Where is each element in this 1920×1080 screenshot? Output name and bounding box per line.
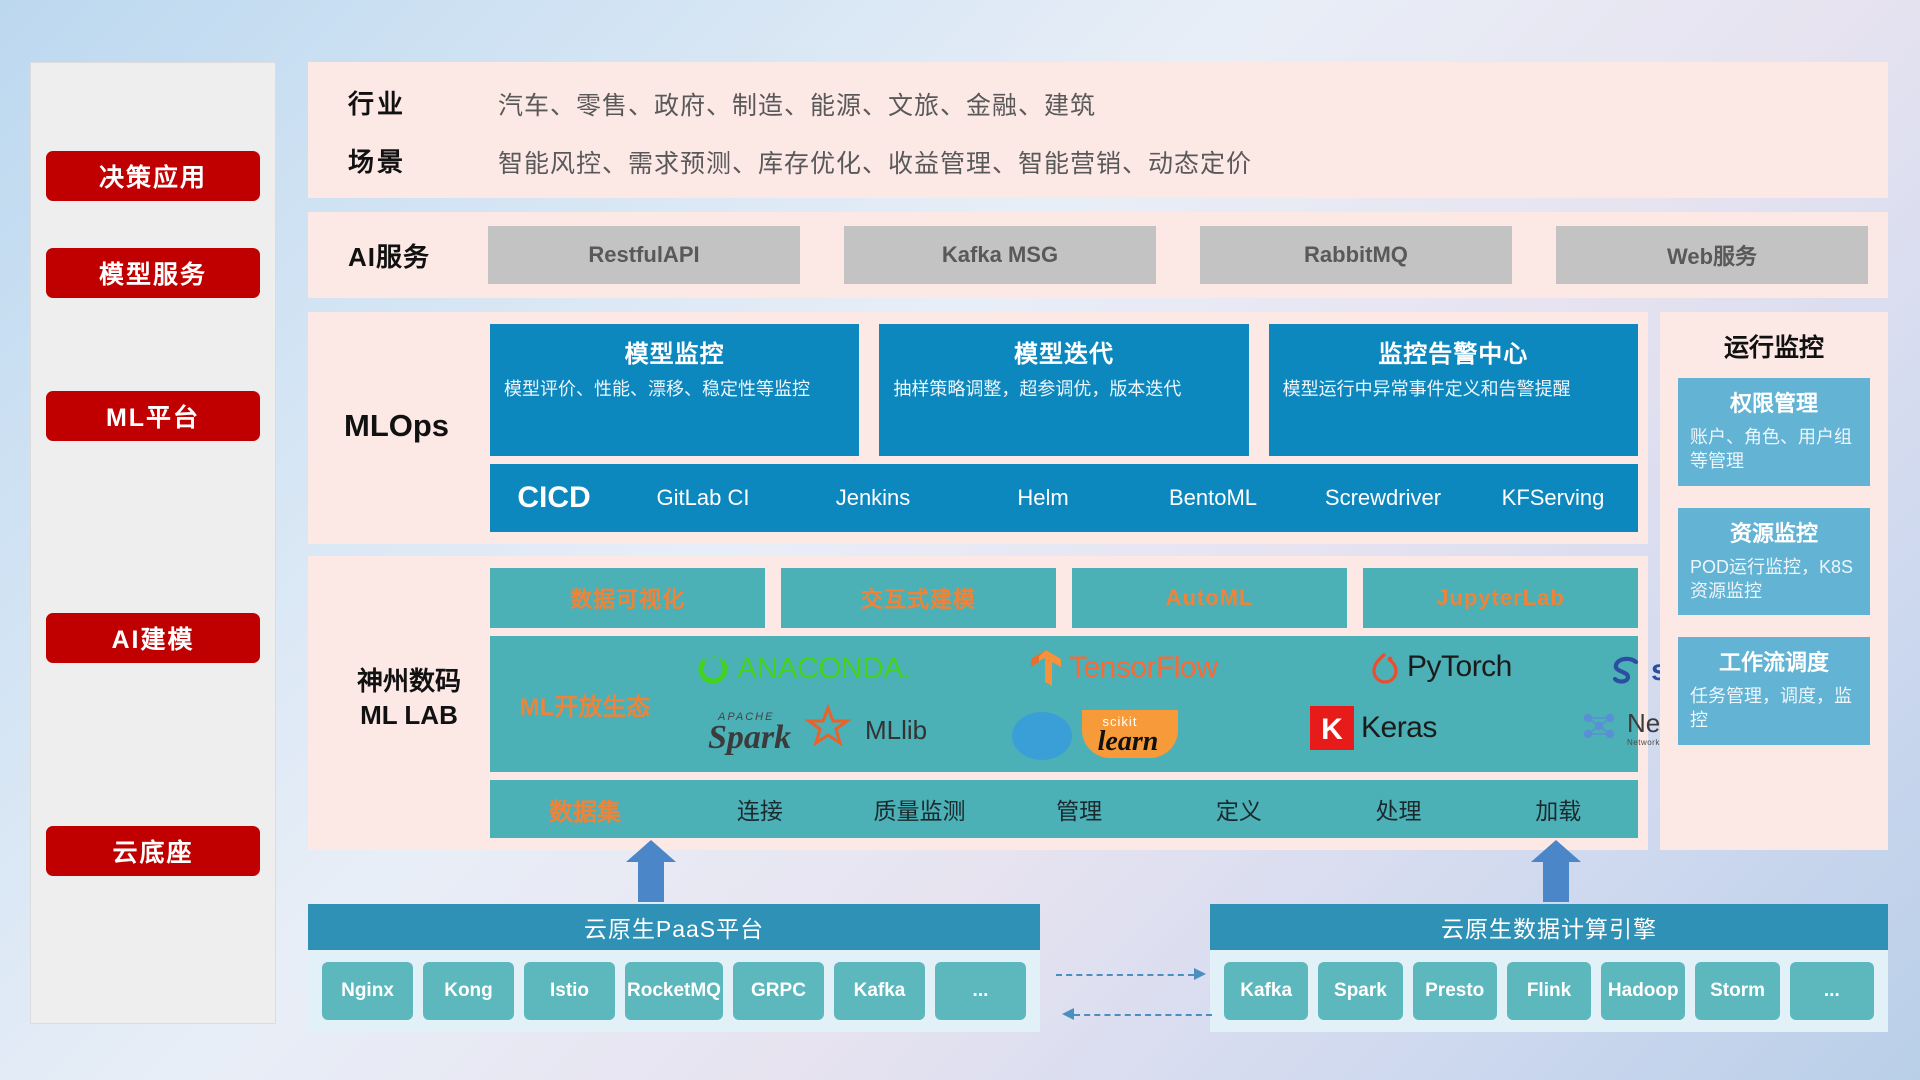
svg-text:K: K (1321, 713, 1343, 746)
compute-pill[interactable]: Storm (1695, 962, 1779, 1020)
monitoring-card-desc: 账户、角色、用户组等管理 (1690, 425, 1858, 474)
cicd-tool[interactable]: KFServing (1468, 487, 1638, 509)
cicd-tool[interactable]: Jenkins (788, 487, 958, 509)
scikit-learn-logo: scikit learn (1010, 704, 1195, 760)
industry-label: 行业 (348, 84, 458, 121)
tensorflow-wordmark: TensorFlow (1069, 651, 1217, 685)
scenario-label: 场景 (348, 142, 458, 179)
spark-mllib-logo: APACHE Spark MLlib (708, 704, 927, 756)
dataset-item[interactable]: 连接 (680, 792, 840, 826)
dataset-row: 数据集 连接 质量监测 管理 定义 处理 加载 (490, 780, 1638, 838)
layer-chip-cloud-base[interactable]: 云底座 (46, 826, 260, 876)
modeling-chip[interactable]: 数据可视化 (490, 568, 765, 628)
pytorch-logo: PyTorch (1370, 650, 1512, 684)
paas-pill[interactable]: Kafka (834, 962, 925, 1020)
mlops-card-title: 模型监控 (504, 334, 845, 369)
keras-logo: K Keras (1310, 706, 1437, 750)
arrow-up-paas-icon (638, 860, 664, 902)
connector-left-icon (1074, 1014, 1212, 1016)
monitoring-card[interactable]: 资源监控 POD运行监控，K8S资源监控 (1678, 508, 1870, 616)
ai-service-item[interactable]: Kafka MSG (844, 226, 1156, 284)
modeling-chip[interactable]: AutoML (1072, 568, 1347, 628)
tensorflow-mark-icon (1030, 648, 1062, 688)
svg-text:Spark: Spark (708, 719, 791, 756)
mlops-card[interactable]: 监控告警中心 模型运行中异常事件定义和告警提醒 (1269, 324, 1638, 456)
mlops-card-desc: 模型运行中异常事件定义和告警提醒 (1283, 377, 1624, 401)
monitoring-card-desc: POD运行监控，K8S资源监控 (1690, 555, 1858, 604)
paas-pill[interactable]: RocketMQ (625, 962, 723, 1020)
ai-service-item[interactable]: RabbitMQ (1200, 226, 1512, 284)
spark-mark-icon: APACHE Spark (708, 704, 858, 756)
cicd-tool[interactable]: Helm (958, 487, 1128, 509)
monitoring-title: 运行监控 (1660, 312, 1888, 378)
modeling-chip[interactable]: 交互式建模 (781, 568, 1056, 628)
layer-chip-decision-app[interactable]: 决策应用 (46, 151, 260, 201)
paas-column: 云原生PaaS平台 Nginx Kong Istio RocketMQ GRPC… (308, 904, 1040, 1032)
ml-lab-label-line1: 神州数码 (334, 664, 484, 698)
tensorflow-logo: TensorFlow (1030, 648, 1217, 688)
scikit-learn-mark-icon: scikit learn (1010, 704, 1195, 760)
ai-service-label: AI服务 (348, 237, 430, 274)
networkx-graph-icon (1580, 708, 1620, 748)
ai-service-band: AI服务 RestfulAPI Kafka MSG RabbitMQ Web服务 (308, 212, 1888, 298)
monitoring-card[interactable]: 工作流调度 任务管理，调度，监控 (1678, 637, 1870, 745)
monitoring-card-title: 工作流调度 (1690, 645, 1858, 677)
cloud-foundation: 云原生PaaS平台 Nginx Kong Istio RocketMQ GRPC… (308, 886, 1888, 1036)
ml-lab-label-line2: ML LAB (334, 698, 484, 732)
modeling-chip[interactable]: JupyterLab (1363, 568, 1638, 628)
compute-pill-list: Kafka Spark Presto Flink Hadoop Storm ..… (1210, 950, 1888, 1032)
mlops-card-desc: 模型评价、性能、漂移、稳定性等监控 (504, 377, 845, 401)
mlops-card-list: 模型监控 模型评价、性能、漂移、稳定性等监控 模型迭代 抽样策略调整，超参调优，… (490, 324, 1638, 456)
scenario-value: 智能风控、需求预测、库存优化、收益管理、智能营销、动态定价 (498, 144, 1858, 180)
layer-chip-ml-platform[interactable]: ML平台 (46, 391, 260, 441)
mlops-card-title: 监控告警中心 (1283, 334, 1624, 369)
industry-value: 汽车、零售、政府、制造、能源、文旅、金融、建筑 (498, 86, 1858, 122)
dataset-item[interactable]: 质量监测 (840, 792, 1000, 826)
architecture-diagram: 决策应用模型服务ML平台AI建模云底座 行业 汽车、零售、政府、制造、能源、文旅… (0, 0, 1920, 1080)
paas-title: 云原生PaaS平台 (308, 904, 1040, 950)
mlops-card[interactable]: 模型迭代 抽样策略调整，超参调优，版本迭代 (879, 324, 1248, 456)
ml-lab-label: 神州数码 ML LAB (334, 664, 484, 733)
mlops-card-title: 模型迭代 (893, 334, 1234, 369)
compute-pill[interactable]: Spark (1318, 962, 1402, 1020)
dataset-item[interactable]: 处理 (1319, 792, 1479, 826)
paas-pill-list: Nginx Kong Istio RocketMQ GRPC Kafka ... (308, 950, 1040, 1032)
ml-ecosystem-row: ML开放生态 ANACONDA. TensorFlow (490, 636, 1638, 772)
paas-pill[interactable]: ... (935, 962, 1026, 1020)
paas-pill[interactable]: Kong (423, 962, 514, 1020)
mlops-card-desc: 抽样策略调整，超参调优，版本迭代 (893, 377, 1234, 401)
mlops-band: MLOps 模型监控 模型评价、性能、漂移、稳定性等监控 模型迭代 抽样策略调整… (308, 312, 1648, 544)
ml-ecosystem-label: ML开放生态 (490, 687, 680, 722)
cicd-tool[interactable]: Screwdriver (1298, 487, 1468, 509)
cicd-tool[interactable]: GitLab CI (618, 487, 788, 509)
paas-pill[interactable]: GRPC (733, 962, 824, 1020)
connector-left-arrowhead-icon (1062, 1008, 1074, 1020)
layer-chip-model-service[interactable]: 模型服务 (46, 248, 260, 298)
pytorch-flame-icon (1370, 650, 1400, 684)
compute-pill[interactable]: ... (1790, 962, 1874, 1020)
compute-pill[interactable]: Presto (1413, 962, 1497, 1020)
dataset-item[interactable]: 加载 (1478, 792, 1638, 826)
dataset-item[interactable]: 管理 (999, 792, 1159, 826)
dataset-title: 数据集 (490, 792, 680, 827)
mllib-wordmark: MLlib (865, 715, 927, 746)
dataset-item[interactable]: 定义 (1159, 792, 1319, 826)
compute-pill[interactable]: Flink (1507, 962, 1591, 1020)
paas-pill[interactable]: Nginx (322, 962, 413, 1020)
ai-service-item[interactable]: RestfulAPI (488, 226, 800, 284)
cicd-tool[interactable]: BentoML (1128, 487, 1298, 509)
monitoring-card-title: 权限管理 (1690, 386, 1858, 418)
compute-pill[interactable]: Kafka (1224, 962, 1308, 1020)
paas-pill[interactable]: Istio (524, 962, 615, 1020)
monitoring-card-title: 资源监控 (1690, 516, 1858, 548)
ml-ecosystem-logos: ANACONDA. TensorFlow PyTorch (680, 636, 1638, 772)
anaconda-logo: ANACONDA. (696, 652, 911, 686)
mlops-label: MLOps (344, 408, 449, 444)
ml-lab-band: 神州数码 ML LAB 数据可视化 交互式建模 AutoML JupyterLa… (308, 556, 1648, 850)
monitoring-band: 运行监控 权限管理 账户、角色、用户组等管理 资源监控 POD运行监控，K8S资… (1660, 312, 1888, 850)
compute-engine-title: 云原生数据计算引擎 (1210, 904, 1888, 950)
arrow-up-compute-icon (1543, 860, 1569, 902)
monitoring-card[interactable]: 权限管理 账户、角色、用户组等管理 (1678, 378, 1870, 486)
anaconda-wordmark: ANACONDA. (737, 652, 911, 686)
layer-rail: 决策应用模型服务ML平台AI建模云底座 (30, 62, 276, 1024)
pytorch-wordmark: PyTorch (1407, 650, 1512, 684)
business-band: 行业 汽车、零售、政府、制造、能源、文旅、金融、建筑 场景 智能风控、需求预测、… (308, 62, 1888, 198)
svg-text:learn: learn (1098, 726, 1159, 757)
keras-wordmark: Keras (1361, 711, 1437, 745)
connector-right-arrowhead-icon (1194, 968, 1206, 980)
compute-engine-column: 云原生数据计算引擎 Kafka Spark Presto Flink Hadoo… (1210, 904, 1888, 1032)
connector-right-icon (1056, 974, 1194, 976)
anaconda-ring-icon (696, 652, 730, 686)
compute-pill[interactable]: Hadoop (1601, 962, 1685, 1020)
monitoring-card-desc: 任务管理，调度，监控 (1690, 684, 1858, 733)
modeling-chip-list: 数据可视化 交互式建模 AutoML JupyterLab (490, 568, 1638, 628)
ai-service-item[interactable]: Web服务 (1556, 226, 1868, 284)
layer-chip-ai-modeling[interactable]: AI建模 (46, 613, 260, 663)
mlops-card[interactable]: 模型监控 模型评价、性能、漂移、稳定性等监控 (490, 324, 859, 456)
cicd-row: CICD GitLab CI Jenkins Helm BentoML Scre… (490, 464, 1638, 532)
sas-swirl-icon (1610, 656, 1644, 686)
ai-service-list: RestfulAPI Kafka MSG RabbitMQ Web服务 (488, 226, 1868, 284)
cicd-title: CICD (490, 481, 618, 515)
keras-mark-icon: K (1310, 706, 1354, 750)
